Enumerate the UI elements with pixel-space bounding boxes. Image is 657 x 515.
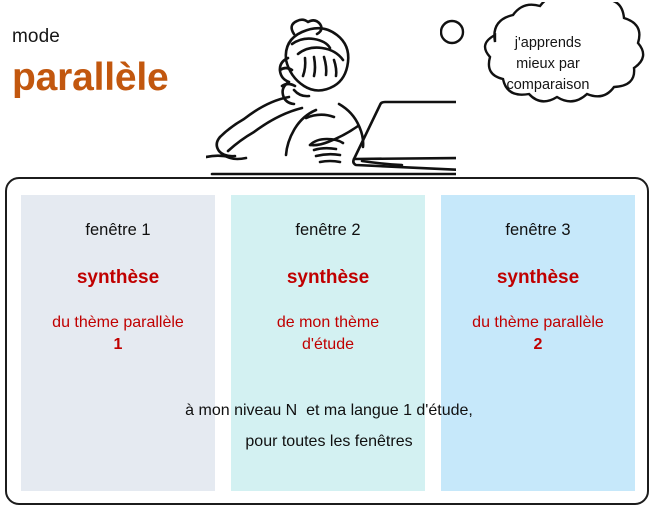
- window-detail-3-line1: du thème parallèle: [443, 312, 633, 334]
- student-at-laptop-icon: [206, 0, 456, 178]
- thought-line-1: j'apprends: [462, 33, 634, 54]
- thought-bubble-text: j'apprends mieux par comparaison: [462, 33, 634, 96]
- thought-line-3: comparaison: [462, 75, 634, 96]
- title-block: mode parallèle: [12, 27, 222, 100]
- window-detail-3-line2: 2: [443, 334, 633, 356]
- window-detail-2-line2: d'étude: [233, 334, 423, 356]
- window-detail-1-line1: du thème parallèle: [23, 312, 213, 334]
- window-label-2: fenêtre 2: [231, 221, 425, 241]
- window-columns: fenêtre 1 synthèse du thème parallèle 1 …: [21, 195, 635, 491]
- synthese-heading-3: synthèse: [441, 267, 635, 290]
- window-detail-1-line2: 1: [23, 334, 213, 356]
- synthese-heading-1: synthèse: [21, 267, 215, 290]
- window-column-3: fenêtre 3 synthèse du thème parallèle 2: [441, 195, 635, 491]
- window-column-1: fenêtre 1 synthèse du thème parallèle 1: [21, 195, 215, 491]
- window-label-1: fenêtre 1: [21, 221, 215, 241]
- parallel-mode-panel: fenêtre 1 synthèse du thème parallèle 1 …: [5, 177, 649, 505]
- title-mode-label: mode: [12, 27, 222, 48]
- window-detail-3: du thème parallèle 2: [441, 312, 635, 356]
- thought-line-2: mieux par: [462, 54, 634, 75]
- window-detail-2: de mon thème d'étude: [231, 312, 425, 356]
- window-label-3: fenêtre 3: [441, 221, 635, 241]
- synthese-heading-2: synthèse: [231, 267, 425, 290]
- window-column-2: fenêtre 2 synthèse de mon thème d'étude: [231, 195, 425, 491]
- window-detail-2-line1: de mon thème: [233, 312, 423, 334]
- window-detail-1: du thème parallèle 1: [21, 312, 215, 356]
- header-illustration-area: mode parallèle: [0, 0, 657, 177]
- title-parallele-label: parallèle: [12, 56, 222, 100]
